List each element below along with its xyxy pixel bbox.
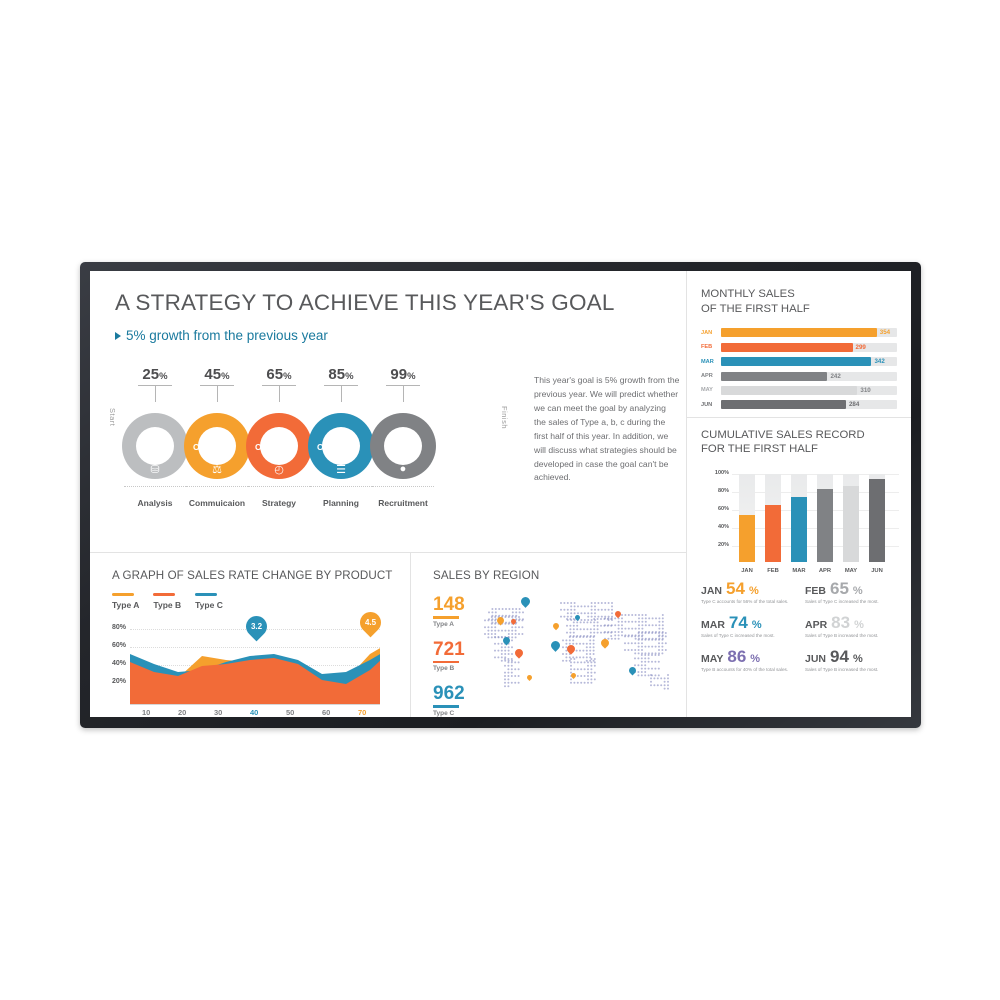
region-item-0: 148 Type A	[433, 595, 465, 628]
chain-percent-sign: %	[345, 371, 353, 382]
chain-stage-name: Recruitment	[361, 498, 445, 508]
monthly-bar-month: MAY	[701, 387, 721, 393]
subtitle-text: 5% growth from the previous year	[126, 328, 328, 343]
cumulative-column-JUN	[869, 474, 885, 562]
stat-header: APR 83%	[805, 614, 905, 631]
right-panel: MONTHLY SALES OF THE FIRST HALF JAN 354 …	[687, 271, 911, 717]
stat-percent-sign: %	[854, 619, 864, 631]
monthly-bar-row: FEB 299	[701, 342, 897, 353]
chain-dotted-arc	[124, 486, 186, 487]
stat-month: MAR	[701, 619, 725, 631]
stat-percent: 94	[830, 648, 849, 665]
monthly-bar-track: 299	[721, 343, 897, 352]
cumulative-column-APR	[817, 474, 833, 562]
process-chain-infographic: Start Finish ⛁Analysis 25% Option 01⚖Com…	[110, 366, 510, 516]
monthly-bar-track: 284	[721, 400, 897, 409]
region-title: SALES BY REGION	[433, 569, 686, 582]
callout-stem	[341, 385, 342, 402]
region-value: 148	[433, 595, 465, 614]
chain-percent-callout: 65%	[244, 366, 314, 384]
region-underline	[433, 661, 459, 664]
chain-percent-value: 25	[142, 366, 159, 383]
cumulative-month-label: MAR	[791, 568, 807, 574]
stat-percent-sign: %	[749, 585, 759, 597]
chain-percent-sign: %	[159, 371, 167, 382]
monthly-bar-value: 299	[856, 343, 866, 352]
monthly-bar-value: 284	[849, 400, 859, 409]
monthly-bar-track: 342	[721, 357, 897, 366]
cumulative-column-fill	[869, 479, 885, 562]
stat-month: JUN	[805, 653, 826, 665]
stat-percent: 74	[729, 614, 748, 631]
goal-description: This year's goal is 5% growth from the p…	[534, 374, 680, 485]
monthly-bar-fill	[721, 386, 857, 395]
monthly-bar-track: 354	[721, 328, 897, 337]
chain-percent-sign: %	[407, 371, 415, 382]
callout-stem	[279, 385, 280, 402]
stat-cell-MAR: MAR 74% Sales of Type C increased the mo…	[701, 614, 801, 640]
monthly-bar-row: JUN 284	[701, 399, 897, 410]
cumulative-y-tick: 80%	[709, 488, 729, 494]
chain-ring-hole	[136, 427, 174, 465]
cumulative-y-tick: 20%	[709, 542, 729, 548]
triangle-right-icon	[115, 332, 121, 340]
stat-cell-JAN: JAN 54% Type C accounts for 56% of the t…	[701, 580, 801, 606]
region-type-label: Type C	[433, 710, 465, 717]
monthly-bar-row: JAN 354	[701, 327, 897, 338]
area-x-tick: 10	[142, 708, 150, 717]
region-item-2: 962 Type C	[433, 684, 465, 717]
stat-percent-sign: %	[750, 653, 760, 665]
chain-finish-label: Finish	[500, 406, 509, 429]
monthly-sales-bars: JAN 354 FEB 299 MAR 342 APR 242	[701, 327, 897, 410]
stat-description: Type C accounts for 56% of the total sal…	[701, 599, 801, 606]
region-value: 962	[433, 684, 465, 703]
chain-percent-callout: 85%	[306, 366, 376, 384]
cumulative-column-fill	[843, 486, 859, 562]
cumulative-month-label: JAN	[739, 568, 755, 574]
subtitle: 5% growth from the previous year	[115, 328, 328, 343]
cumulative-column-FEB	[765, 474, 781, 562]
stat-percent-sign: %	[853, 653, 863, 665]
chain-percent-value: 85	[328, 366, 345, 383]
stat-month: APR	[805, 619, 827, 631]
monthly-bar-fill	[721, 343, 853, 352]
monthly-bar-fill	[721, 357, 871, 366]
stat-cell-FEB: FEB 65% Sales of Type C increased the mo…	[805, 580, 905, 606]
chain-option-label: Option 02	[255, 442, 294, 452]
clock-icon: ◴	[269, 463, 289, 476]
cumulative-month-label: APR	[817, 568, 833, 574]
chain-percent-sign: %	[283, 371, 291, 382]
chain-dotted-arc	[372, 486, 434, 487]
region-type-label: Type B	[433, 665, 465, 672]
stat-month: FEB	[805, 585, 826, 597]
area-x-tick: 60	[322, 708, 330, 717]
cumulative-column-JAN	[739, 474, 755, 562]
monthly-bar-row: MAR 342	[701, 356, 897, 367]
cumulative-column-fill	[817, 489, 833, 562]
chain-percent-callout: 45%	[182, 366, 252, 384]
stat-percent-sign: %	[752, 619, 762, 631]
strategy-panel: A STRATEGY TO ACHIEVE THIS YEAR'S GOAL 5…	[90, 271, 686, 552]
stat-header: MAR 74%	[701, 614, 801, 631]
region-item-1: 721 Type B	[433, 640, 465, 673]
region-underline	[433, 705, 459, 708]
callout-stem	[403, 385, 404, 402]
area-x-tick: 40	[250, 708, 258, 717]
chain-percent-value: 99	[390, 366, 407, 383]
sales-by-region-panel: SALES BY REGION 148 Type A 721 Type B 96…	[411, 553, 686, 717]
area-chart-svg	[104, 626, 380, 704]
stat-description: Type B accounts for 40% of the total sal…	[701, 667, 801, 674]
monthly-bar-month: APR	[701, 373, 721, 379]
stat-header: FEB 65%	[805, 580, 905, 597]
cumulative-month-label: FEB	[765, 568, 781, 574]
monthly-bar-month: FEB	[701, 344, 721, 350]
stat-description: Sales of Type C increased the most.	[805, 599, 905, 606]
chain-dotted-arc	[310, 486, 372, 487]
chain-start-label: Start	[108, 408, 117, 426]
monthly-sales-section: MONTHLY SALES OF THE FIRST HALF JAN 354 …	[687, 271, 911, 410]
monthly-bar-row: MAY 310	[701, 385, 897, 396]
chain-ring-hole	[322, 427, 360, 465]
monthly-bar-row: APR 242	[701, 371, 897, 382]
cumulative-y-tick: 60%	[709, 506, 729, 512]
legend-item-2: Type C	[195, 593, 223, 610]
sales-rate-chart-panel: A GRAPH OF SALES RATE CHANGE BY PRODUCT …	[90, 553, 410, 717]
monthly-bar-track: 242	[721, 372, 897, 381]
monthly-bar-month: JAN	[701, 330, 721, 336]
server-icon: ☰	[331, 463, 351, 476]
monthly-bar-value: 242	[830, 372, 840, 381]
monthly-bar-value: 310	[860, 386, 870, 395]
region-value-list: 148 Type A 721 Type B 962 Type C	[433, 595, 465, 717]
stat-percent: 54	[726, 580, 745, 597]
world-map	[475, 583, 681, 717]
stat-description: Sales of Type B increased the most.	[805, 633, 905, 640]
monitor-frame: A STRATEGY TO ACHIEVE THIS YEAR'S GOAL 5…	[80, 262, 921, 728]
chain-dotted-arc	[248, 486, 310, 487]
cumulative-column-chart: 100%80%60%40%20% JAN FEB MAR APR MAY JUN	[709, 466, 899, 574]
legend-swatch	[112, 593, 134, 596]
chain-ring-hole	[384, 427, 422, 465]
cumulative-column-MAY	[843, 474, 859, 562]
area-x-axis	[130, 704, 380, 705]
stat-description: Sales of Type B increased the most.	[805, 667, 905, 674]
monthly-bar-month: MAR	[701, 359, 721, 365]
stat-header: MAY 86%	[701, 648, 801, 665]
stat-cell-JUN: JUN 94% Sales of Type B increased the mo…	[805, 648, 905, 674]
callout-stem	[155, 385, 156, 402]
chain-percent-callout: 25%	[120, 366, 190, 384]
monthly-bar-fill	[721, 372, 827, 381]
cumulative-column-fill	[791, 497, 807, 562]
area-chart-plot: 80%60%40%20% 102030405060703.24.5	[104, 620, 394, 712]
chain-percent-sign: %	[221, 371, 229, 382]
stat-percent: 83	[831, 614, 850, 631]
legend-label: Type B	[153, 600, 181, 610]
cumulative-y-tick: 40%	[709, 524, 729, 530]
area-chart-legend: Type A Type B Type C	[112, 593, 410, 610]
chain-dotted-arc	[186, 486, 248, 487]
stat-percent: 86	[727, 648, 746, 665]
stat-month: JAN	[701, 585, 722, 597]
stat-percent-sign: %	[853, 585, 863, 597]
chain-option-label: Option 01	[193, 442, 232, 452]
legend-label: Type C	[195, 600, 223, 610]
region-value: 721	[433, 640, 465, 659]
cumulative-sales-section: CUMULATIVE SALES RECORD FOR THE FIRST HA…	[687, 414, 911, 688]
monthly-sales-title: MONTHLY SALES OF THE FIRST HALF	[701, 287, 897, 316]
monthly-bar-value: 354	[880, 328, 890, 337]
chain-percent-callout: 99%	[368, 366, 438, 384]
area-x-tick: 50	[286, 708, 294, 717]
lamp-icon: ⚖	[207, 463, 227, 476]
legend-swatch	[153, 593, 175, 596]
area-chart-title: A GRAPH OF SALES RATE CHANGE BY PRODUCT	[112, 569, 410, 582]
cumulative-month-label: MAY	[843, 568, 859, 574]
stat-month: MAY	[701, 653, 723, 665]
chain-percent-value: 45	[204, 366, 221, 383]
legend-item-0: Type A	[112, 593, 139, 610]
stat-percent: 65	[830, 580, 849, 597]
region-type-label: Type A	[433, 621, 465, 628]
cumulative-month-label: JUN	[869, 568, 885, 574]
monthly-bar-fill	[721, 400, 846, 409]
cumulative-y-tick: 100%	[709, 470, 729, 476]
monthly-bar-fill	[721, 328, 877, 337]
legend-item-1: Type B	[153, 593, 181, 610]
dashboard-screen: A STRATEGY TO ACHIEVE THIS YEAR'S GOAL 5…	[90, 271, 911, 717]
monthly-bar-track: 310	[721, 386, 897, 395]
legend-swatch	[195, 593, 217, 596]
cumulative-column-fill	[739, 515, 755, 563]
callout-stem	[217, 385, 218, 402]
stat-description: Sales of Type C increased the most.	[701, 633, 801, 640]
stat-cell-APR: APR 83% Sales of Type B increased the mo…	[805, 614, 905, 640]
region-underline	[433, 616, 459, 619]
stat-header: JUN 94%	[805, 648, 905, 665]
stat-cell-MAY: MAY 86% Type B accounts for 40% of the t…	[701, 648, 801, 674]
legend-label: Type A	[112, 600, 139, 610]
area-x-tick: 70	[358, 708, 366, 717]
monthly-stats-grid: JAN 54% Type C accounts for 56% of the t…	[701, 580, 897, 688]
cumulative-column-fill	[765, 505, 781, 562]
area-x-tick: 30	[214, 708, 222, 717]
stat-header: JAN 54%	[701, 580, 801, 597]
bag-icon: ⛁	[145, 463, 165, 476]
monthly-bar-value: 342	[874, 357, 884, 366]
monthly-bar-month: JUN	[701, 402, 721, 408]
page-title: A STRATEGY TO ACHIEVE THIS YEAR'S GOAL	[115, 290, 615, 316]
cumulative-title: CUMULATIVE SALES RECORD FOR THE FIRST HA…	[701, 428, 897, 457]
area-x-tick: 20	[178, 708, 186, 717]
cumulative-column-MAR	[791, 474, 807, 562]
chain-percent-value: 65	[266, 366, 283, 383]
